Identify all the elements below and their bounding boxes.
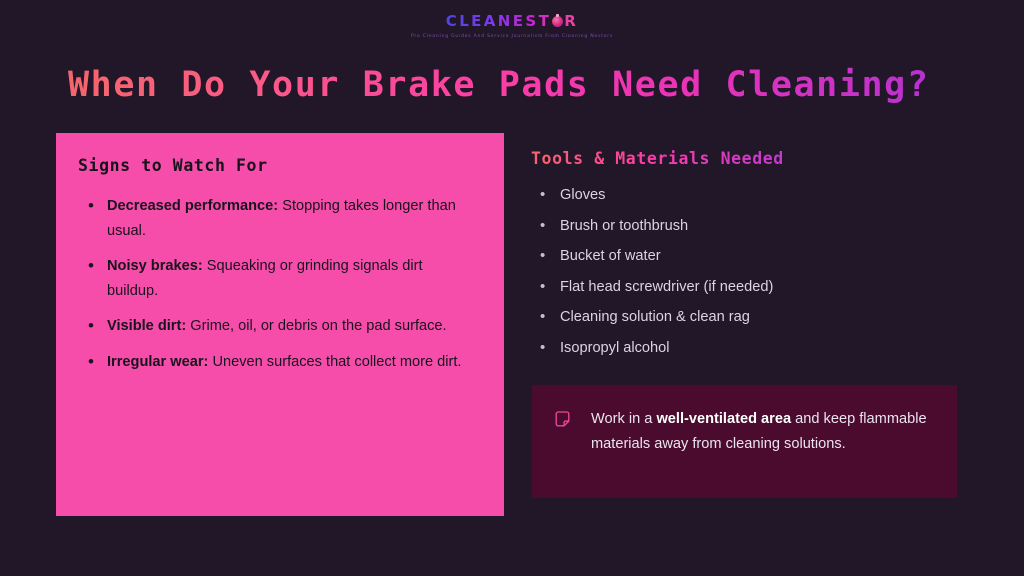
list-item: Irregular wear: Uneven surfaces that col… bbox=[78, 350, 476, 375]
list-item: Bucket of water bbox=[531, 247, 961, 266]
brand-tagline: Pro Cleaning Guides And Service Journali… bbox=[0, 33, 1024, 40]
signs-item-rest: Uneven surfaces that collect more dirt. bbox=[208, 354, 461, 370]
globe-dot-icon bbox=[552, 16, 563, 27]
list-item: Visible dirt: Grime, oil, or debris on t… bbox=[78, 314, 476, 339]
callout-lead: well-ventilated area bbox=[656, 411, 791, 427]
signs-item-lead: Irregular wear: bbox=[107, 354, 208, 370]
list-item: Noisy brakes: Squeaking or grinding sign… bbox=[78, 254, 476, 303]
signs-item-lead: Decreased performance: bbox=[107, 198, 278, 214]
signs-to-watch-card: Signs to Watch For Decreased performance… bbox=[56, 133, 504, 516]
list-item: Cleaning solution & clean rag bbox=[531, 308, 961, 327]
safety-callout-text: Work in a well-ventilated area and keep … bbox=[591, 407, 933, 457]
list-item: Brush or toothbrush bbox=[531, 217, 961, 236]
signs-item-lead: Noisy brakes: bbox=[107, 258, 203, 274]
page-title: When Do Your Brake Pads Need Cleaning? bbox=[68, 62, 930, 108]
list-item: Flat head screwdriver (if needed) bbox=[531, 278, 961, 297]
safety-callout: Work in a well-ventilated area and keep … bbox=[532, 385, 957, 498]
signs-item-rest: Grime, oil, or debris on the pad surface… bbox=[186, 318, 446, 334]
tools-list: Gloves Brush or toothbrush Bucket of wat… bbox=[531, 186, 961, 358]
sticky-note-icon bbox=[554, 411, 571, 428]
tools-section-title: Tools & Materials Needed bbox=[531, 148, 784, 170]
signs-item-lead: Visible dirt: bbox=[107, 318, 186, 334]
list-item: Gloves bbox=[531, 186, 961, 205]
list-item: Decreased performance: Stopping takes lo… bbox=[78, 194, 476, 243]
callout-text-before: Work in a bbox=[591, 411, 656, 427]
brand-header: CLEANESTR Pro Cleaning Guides And Servic… bbox=[0, 12, 1024, 40]
signs-card-title: Signs to Watch For bbox=[78, 155, 476, 177]
brand-wordmark[interactable]: CLEANESTR bbox=[446, 12, 578, 30]
tools-and-materials-section: Tools & Materials Needed Gloves Brush or… bbox=[531, 148, 961, 369]
list-item: Isopropyl alcohol bbox=[531, 339, 961, 358]
signs-list: Decreased performance: Stopping takes lo… bbox=[78, 194, 476, 374]
brand-name-before: CLEANEST bbox=[446, 12, 551, 30]
brand-name-after: R bbox=[564, 12, 578, 30]
